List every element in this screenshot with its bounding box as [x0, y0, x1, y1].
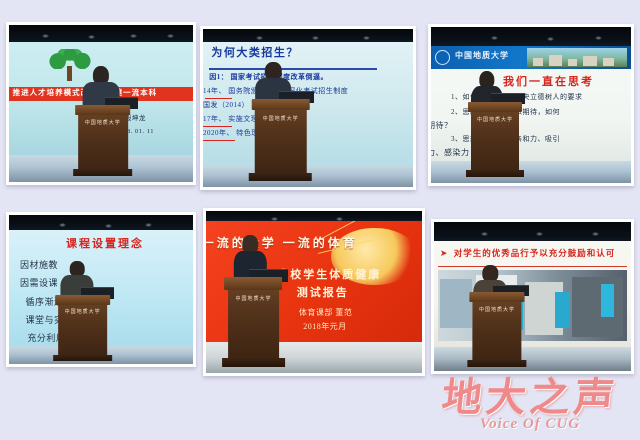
photo-card-first-class-university-sports[interactable]: 一流的大学 一流的体育 我校学生体质健康 测试报告 体育课部 董范 2018年元… — [203, 208, 425, 376]
auditorium-ceiling — [431, 27, 631, 47]
photo-3-image: 中国地质大学 我们一直在思考 1、如何贯彻落实好中央立德树人的要求 2、思政课到… — [431, 27, 631, 183]
photo-5-subtitle-2: 测试报告 — [297, 288, 349, 299]
photo-3-line-3: 期待？ — [431, 122, 453, 130]
photo-6-projection-screen: ➤ 对学生的优秀品行予以充分鼓励和认可 — [434, 241, 631, 348]
photo-6-podium-plaque: 中国地质大学 — [476, 308, 517, 327]
photo-6-inset-photos — [438, 270, 627, 341]
photo-4-image: 课程设置理念 因材施教 因需设课 循序渐进 课堂与实践相结合 充分利用信息技术 … — [9, 215, 193, 364]
photo-4-line-1: 因材施教 — [20, 261, 58, 270]
photo-2-image: 为何大类招生？ 因1： 国家考试招生制度改革倒逼。 14年、 国务院颁发《关于深… — [203, 29, 413, 187]
photo-card-we-keep-thinking[interactable]: 中国地质大学 我们一直在思考 1、如何贯彻落实好中央立德树人的要求 2、思政课到… — [428, 24, 634, 186]
cug-emblem-icon — [435, 50, 450, 65]
collage-canvas: 推进人才培养模式改革，构建一流本科 殷坤龙 2018. 01. 11 中国地质大… — [0, 0, 640, 440]
photo-3-projection-screen: 中国地质大学 我们一直在思考 1、如何贯彻落实好中央立德树人的要求 2、思政课到… — [431, 46, 631, 165]
photo-card-why-broad-category-admission[interactable]: 为何大类招生？ 因1： 国家考试招生制度改革倒逼。 14年、 国务院颁发《关于深… — [200, 26, 416, 190]
photo-5-date: 2018年元月 — [303, 323, 347, 331]
photo-4-podium-plaque: 中国地质大学 — [62, 310, 104, 327]
photo-3-header-text: 中国地质大学 — [455, 50, 509, 61]
photo-2-slide-title: 为何大类招生？ — [211, 48, 299, 59]
photo-1-image: 推进人才培养模式改革，构建一流本科 殷坤龙 2018. 01. 11 中国地质大… — [9, 25, 193, 182]
watermark-voice-of-cug: 地大之声 Voice Of CUG — [426, 376, 634, 438]
photo-3-slide-title: 我们一直在思考 — [503, 77, 594, 88]
photo-3-podium-plaque: 中国地质大学 — [475, 118, 515, 137]
watermark-english-text: Voice Of CUG — [426, 416, 634, 433]
watermark-chinese-text: 地大之声 — [424, 376, 637, 420]
photo-2-podium: 中国地质大学 — [254, 99, 307, 181]
photo-3-stage-floor — [431, 161, 631, 183]
photo-6-slide-title: 对学生的优秀品行予以充分鼓励和认可 — [454, 249, 616, 258]
photo-6-image: ➤ 对学生的优秀品行予以充分鼓励和认可 — [434, 222, 631, 371]
photo-1-podium: 中国地质大学 — [78, 105, 128, 176]
campus-photo-banner — [527, 48, 627, 67]
photo-card-encourage-student-conduct[interactable]: ➤ 对学生的优秀品行予以充分鼓励和认可 — [431, 219, 634, 374]
photo-5-subtitle-1: 我校学生体质健康 — [277, 270, 381, 281]
photo-1-podium-plaque: 中国地质大学 — [82, 121, 124, 139]
photo-6-stage-floor — [434, 347, 631, 371]
auditorium-ceiling — [434, 222, 631, 243]
photo-5-byline: 体育课部 董范 — [299, 309, 353, 317]
photo-4-slide-title: 课程设置理念 — [66, 239, 144, 250]
photo-5-podium: 中国地质大学 — [228, 277, 280, 366]
photo-4-line-2: 因需设课 — [20, 279, 58, 288]
photo-5-podium-plaque: 中国地质大学 — [232, 297, 276, 320]
photo-2-podium-plaque: 中国地质大学 — [259, 117, 303, 138]
photo-3-slide-header: 中国地质大学 — [431, 46, 631, 70]
photo-6-podium: 中国地质大学 — [472, 292, 521, 367]
photo-3-line-5: 力、感染力 — [431, 149, 470, 157]
photo-card-curriculum-design-philosophy[interactable]: 课程设置理念 因材施教 因需设课 循序渐进 课堂与实践相结合 充分利用信息技术 … — [6, 212, 196, 367]
photo-5-slide-title: 一流的大学 一流的体育 — [206, 237, 358, 249]
photo-5-image: 一流的大学 一流的体育 我校学生体质健康 测试报告 体育课部 董范 2018年元… — [206, 211, 422, 373]
auditorium-ceiling — [9, 25, 193, 44]
photo-4-podium: 中国地质大学 — [58, 295, 108, 361]
photo-2-line-3: 国发（2014） — [203, 102, 249, 109]
photo-1-speaker-name: 殷坤龙 — [125, 116, 146, 123]
photo-3-podium: 中国地质大学 — [471, 102, 519, 177]
photo-6-bullet-icon: ➤ — [440, 249, 448, 258]
photo-card-talent-training-reform[interactable]: 推进人才培养模式改革，构建一流本科 殷坤龙 2018. 01. 11 中国地质大… — [6, 22, 196, 185]
